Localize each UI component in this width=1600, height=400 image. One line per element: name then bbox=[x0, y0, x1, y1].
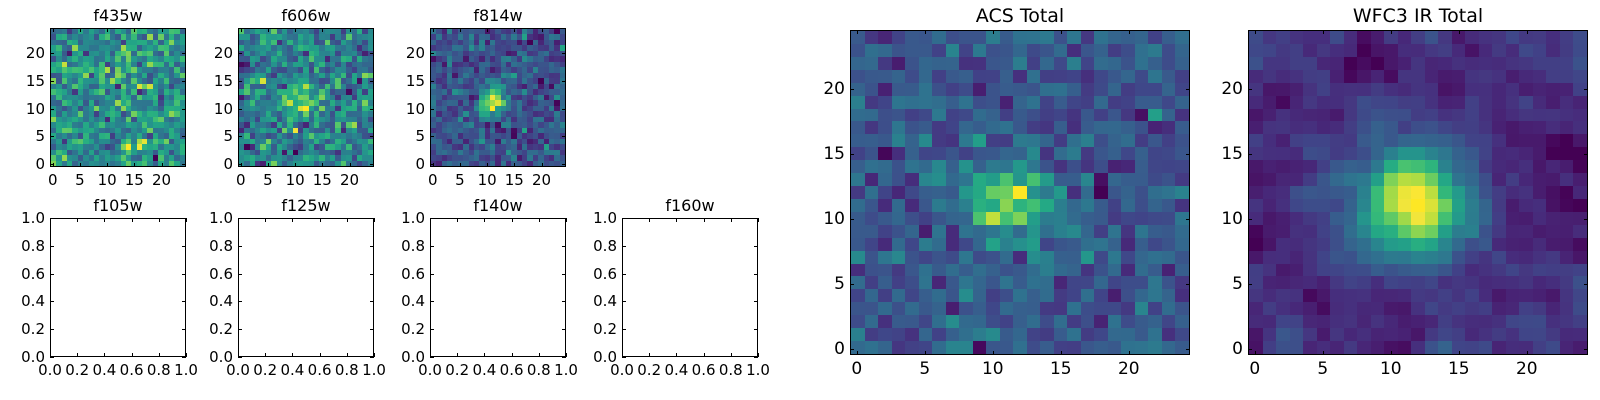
ytick-mark bbox=[50, 136, 54, 137]
ytick-mark-right bbox=[562, 246, 566, 247]
xtick-mark-top bbox=[77, 218, 78, 222]
xtick-mark bbox=[925, 351, 926, 355]
xtick-mark bbox=[350, 163, 351, 167]
ytick-mark-right bbox=[182, 218, 186, 219]
xtick-label: 1.0 bbox=[554, 361, 578, 379]
xtick-mark-top bbox=[704, 218, 705, 222]
ytick-label: 15 bbox=[23, 72, 45, 90]
xtick-label: 1.0 bbox=[362, 361, 386, 379]
xtick-label: 20 bbox=[152, 171, 171, 189]
xtick-label: 0.2 bbox=[637, 361, 661, 379]
ytick-mark-right bbox=[1186, 154, 1190, 155]
ytick-mark bbox=[238, 53, 242, 54]
panel-title-f105w: f105w bbox=[50, 196, 186, 215]
ytick-label: 0.0 bbox=[19, 348, 45, 366]
panel-wfc3_ir_total: WFC3 IR Total0510152005101520 bbox=[1248, 30, 1588, 355]
xtick-label: 15 bbox=[1448, 359, 1470, 379]
ytick-mark bbox=[1248, 349, 1252, 350]
xtick-mark bbox=[1459, 351, 1460, 355]
ytick-mark-right bbox=[562, 357, 566, 358]
xtick-mark-top bbox=[487, 28, 488, 32]
ytick-label: 20 bbox=[403, 44, 425, 62]
ytick-mark bbox=[50, 274, 54, 275]
axes-frame-f140w bbox=[430, 218, 566, 357]
ytick-mark bbox=[1248, 284, 1252, 285]
xtick-mark-top bbox=[80, 28, 81, 32]
xtick-mark-top bbox=[374, 218, 375, 222]
ytick-label: 15 bbox=[1219, 144, 1243, 164]
ytick-mark bbox=[430, 109, 434, 110]
ytick-label: 10 bbox=[821, 209, 845, 229]
xtick-mark bbox=[457, 353, 458, 357]
ytick-label: 5 bbox=[23, 127, 45, 145]
ytick-mark bbox=[850, 154, 854, 155]
ytick-mark-right bbox=[370, 329, 374, 330]
ytick-label: 0 bbox=[211, 155, 233, 173]
xtick-mark-top bbox=[265, 218, 266, 222]
xtick-mark bbox=[347, 353, 348, 357]
ytick-mark-right bbox=[182, 164, 186, 165]
xtick-label: 15 bbox=[125, 171, 144, 189]
ytick-label: 0.4 bbox=[399, 292, 425, 310]
ytick-mark-right bbox=[562, 81, 566, 82]
ytick-mark-right bbox=[1584, 154, 1588, 155]
xtick-label: 5 bbox=[75, 171, 85, 189]
panel-f140w: f140w0.00.20.40.60.81.00.00.20.40.60.81.… bbox=[430, 218, 566, 357]
ytick-mark-right bbox=[562, 329, 566, 330]
xtick-mark-top bbox=[347, 218, 348, 222]
ytick-mark-right bbox=[370, 136, 374, 137]
ytick-mark bbox=[238, 246, 242, 247]
xtick-mark bbox=[322, 163, 323, 167]
ytick-mark bbox=[622, 301, 626, 302]
xtick-mark-top bbox=[295, 28, 296, 32]
ytick-mark bbox=[238, 164, 242, 165]
ytick-mark-right bbox=[754, 357, 758, 358]
xtick-label: 0.8 bbox=[527, 361, 551, 379]
ytick-mark bbox=[430, 329, 434, 330]
xtick-mark-top bbox=[539, 218, 540, 222]
xtick-label: 0.6 bbox=[120, 361, 144, 379]
xtick-mark-top bbox=[457, 218, 458, 222]
ytick-mark bbox=[1248, 154, 1252, 155]
xtick-mark bbox=[487, 163, 488, 167]
ytick-label: 0.0 bbox=[591, 348, 617, 366]
ytick-mark-right bbox=[370, 301, 374, 302]
ytick-mark-right bbox=[182, 246, 186, 247]
ytick-label: 0.2 bbox=[19, 320, 45, 338]
xtick-mark-top bbox=[186, 218, 187, 222]
xtick-mark bbox=[514, 163, 515, 167]
panel-f125w: f125w0.00.20.40.60.81.00.00.20.40.60.81.… bbox=[238, 218, 374, 357]
xtick-label: 0.2 bbox=[253, 361, 277, 379]
xtick-label: 15 bbox=[313, 171, 332, 189]
ytick-mark bbox=[238, 274, 242, 275]
xtick-label: 5 bbox=[919, 359, 930, 379]
xtick-label: 5 bbox=[263, 171, 273, 189]
ytick-mark bbox=[850, 89, 854, 90]
ytick-mark-right bbox=[370, 164, 374, 165]
xtick-mark bbox=[566, 353, 567, 357]
ytick-mark-right bbox=[1186, 349, 1190, 350]
ytick-mark-right bbox=[1584, 89, 1588, 90]
ytick-label: 0.6 bbox=[207, 265, 233, 283]
xtick-mark bbox=[104, 353, 105, 357]
xtick-mark-top bbox=[159, 218, 160, 222]
xtick-mark-top bbox=[53, 28, 54, 32]
axes-frame-f160w bbox=[622, 218, 758, 357]
xtick-label: 0 bbox=[428, 171, 438, 189]
xtick-mark-top bbox=[162, 28, 163, 32]
xtick-label: 0.8 bbox=[335, 361, 359, 379]
ytick-mark bbox=[238, 301, 242, 302]
xtick-mark bbox=[704, 353, 705, 357]
ytick-mark-right bbox=[370, 274, 374, 275]
ytick-mark bbox=[622, 274, 626, 275]
xtick-label: 0.4 bbox=[92, 361, 116, 379]
ytick-label: 15 bbox=[821, 144, 845, 164]
xtick-label: 10 bbox=[1380, 359, 1402, 379]
ytick-mark bbox=[50, 218, 54, 219]
xtick-label: 15 bbox=[1050, 359, 1072, 379]
xtick-label: 10 bbox=[98, 171, 117, 189]
ytick-label: 10 bbox=[1219, 209, 1243, 229]
ytick-label: 0.2 bbox=[399, 320, 425, 338]
xtick-mark bbox=[162, 163, 163, 167]
ytick-mark-right bbox=[562, 218, 566, 219]
ytick-label: 5 bbox=[211, 127, 233, 145]
xtick-mark-top bbox=[460, 28, 461, 32]
xtick-mark-top bbox=[857, 30, 858, 34]
ytick-label: 5 bbox=[821, 274, 845, 294]
ytick-mark bbox=[622, 246, 626, 247]
xtick-mark-top bbox=[433, 28, 434, 32]
xtick-mark bbox=[857, 351, 858, 355]
ytick-label: 0.8 bbox=[591, 237, 617, 255]
ytick-mark bbox=[238, 81, 242, 82]
ytick-mark bbox=[622, 218, 626, 219]
ytick-mark bbox=[50, 329, 54, 330]
ytick-label: 15 bbox=[211, 72, 233, 90]
ytick-mark bbox=[850, 349, 854, 350]
ytick-mark bbox=[50, 164, 54, 165]
xtick-label: 0 bbox=[236, 171, 246, 189]
ytick-mark bbox=[1248, 219, 1252, 220]
ytick-label: 0.8 bbox=[207, 237, 233, 255]
xtick-mark-top bbox=[1391, 30, 1392, 34]
panel-title-f140w: f140w bbox=[430, 196, 566, 215]
xtick-label: 5 bbox=[455, 171, 465, 189]
ytick-label: 10 bbox=[23, 100, 45, 118]
ytick-mark-right bbox=[182, 136, 186, 137]
ytick-mark bbox=[430, 136, 434, 137]
ytick-mark-right bbox=[1584, 349, 1588, 350]
xtick-label: 0.2 bbox=[65, 361, 89, 379]
xtick-mark-top bbox=[134, 28, 135, 32]
ytick-label: 1.0 bbox=[19, 209, 45, 227]
ytick-mark bbox=[430, 246, 434, 247]
ytick-label: 0.6 bbox=[19, 265, 45, 283]
xtick-mark-top bbox=[1323, 30, 1324, 34]
ytick-mark bbox=[622, 357, 626, 358]
ytick-label: 20 bbox=[23, 44, 45, 62]
xtick-mark bbox=[993, 351, 994, 355]
xtick-mark-top bbox=[484, 218, 485, 222]
xtick-label: 0.6 bbox=[308, 361, 332, 379]
xtick-mark-top bbox=[993, 30, 994, 34]
ytick-label: 0.2 bbox=[207, 320, 233, 338]
ytick-label: 0 bbox=[403, 155, 425, 173]
xtick-mark-top bbox=[758, 218, 759, 222]
panel-title-f606w: f606w bbox=[238, 6, 374, 25]
panel-title-acs_total: ACS Total bbox=[850, 5, 1190, 27]
xtick-mark-top bbox=[676, 218, 677, 222]
ytick-mark-right bbox=[370, 53, 374, 54]
axes-frame-f105w bbox=[50, 218, 186, 357]
ytick-mark bbox=[50, 301, 54, 302]
ytick-label: 10 bbox=[403, 100, 425, 118]
ytick-mark-right bbox=[370, 109, 374, 110]
xtick-mark bbox=[107, 163, 108, 167]
ytick-label: 0.4 bbox=[19, 292, 45, 310]
ytick-mark-right bbox=[1186, 284, 1190, 285]
xtick-mark-top bbox=[1255, 30, 1256, 34]
xtick-mark-top bbox=[104, 218, 105, 222]
xtick-mark bbox=[1061, 351, 1062, 355]
ytick-mark-right bbox=[754, 329, 758, 330]
axes-frame-wfc3_ir_total bbox=[1248, 30, 1588, 355]
ytick-label: 0.6 bbox=[591, 265, 617, 283]
ytick-mark-right bbox=[182, 81, 186, 82]
xtick-mark-top bbox=[649, 218, 650, 222]
heatmap-image-f435w bbox=[51, 29, 185, 166]
xtick-mark bbox=[512, 353, 513, 357]
xtick-mark-top bbox=[350, 28, 351, 32]
ytick-mark bbox=[50, 109, 54, 110]
xtick-mark-top bbox=[320, 218, 321, 222]
ytick-mark-right bbox=[1584, 219, 1588, 220]
ytick-label: 5 bbox=[1219, 274, 1243, 294]
axes-frame-f125w bbox=[238, 218, 374, 357]
ytick-mark bbox=[1248, 89, 1252, 90]
ytick-mark bbox=[850, 219, 854, 220]
panel-f160w: f160w0.00.20.40.60.81.00.00.20.40.60.81.… bbox=[622, 218, 758, 357]
xtick-label: 0.2 bbox=[445, 361, 469, 379]
xtick-label: 0.6 bbox=[500, 361, 524, 379]
ytick-label: 0.8 bbox=[19, 237, 45, 255]
ytick-mark bbox=[238, 218, 242, 219]
panel-title-wfc3_ir_total: WFC3 IR Total bbox=[1248, 5, 1588, 27]
heatmap-image-f814w bbox=[431, 29, 565, 166]
xtick-mark bbox=[1255, 351, 1256, 355]
figure-canvas: f435w0510152005101520f606w05101520051015… bbox=[0, 0, 1600, 400]
xtick-mark bbox=[676, 353, 677, 357]
ytick-mark-right bbox=[1584, 284, 1588, 285]
xtick-mark bbox=[731, 353, 732, 357]
ytick-mark-right bbox=[562, 136, 566, 137]
ytick-mark-right bbox=[182, 301, 186, 302]
xtick-mark-top bbox=[566, 218, 567, 222]
ytick-mark-right bbox=[370, 218, 374, 219]
xtick-mark bbox=[77, 353, 78, 357]
ytick-label: 0 bbox=[23, 155, 45, 173]
ytick-mark bbox=[50, 53, 54, 54]
xtick-label: 20 bbox=[1118, 359, 1140, 379]
xtick-label: 0.4 bbox=[472, 361, 496, 379]
ytick-mark-right bbox=[562, 164, 566, 165]
xtick-label: 0.6 bbox=[692, 361, 716, 379]
xtick-mark bbox=[1129, 351, 1130, 355]
xtick-mark bbox=[539, 353, 540, 357]
xtick-mark-top bbox=[292, 218, 293, 222]
ytick-mark-right bbox=[754, 218, 758, 219]
xtick-mark-top bbox=[107, 28, 108, 32]
xtick-label: 10 bbox=[478, 171, 497, 189]
ytick-label: 0.2 bbox=[591, 320, 617, 338]
xtick-mark-top bbox=[1459, 30, 1460, 34]
ytick-mark bbox=[430, 53, 434, 54]
xtick-label: 20 bbox=[532, 171, 551, 189]
ytick-mark-right bbox=[182, 329, 186, 330]
ytick-label: 5 bbox=[403, 127, 425, 145]
xtick-mark bbox=[186, 353, 187, 357]
xtick-mark-top bbox=[512, 218, 513, 222]
ytick-mark bbox=[622, 329, 626, 330]
ytick-label: 0.4 bbox=[207, 292, 233, 310]
axes-frame-f814w bbox=[430, 28, 566, 167]
ytick-label: 0 bbox=[1219, 339, 1243, 359]
xtick-label: 0 bbox=[851, 359, 862, 379]
ytick-label: 10 bbox=[211, 100, 233, 118]
axes-frame-f435w bbox=[50, 28, 186, 167]
ytick-mark-right bbox=[754, 246, 758, 247]
ytick-mark bbox=[430, 164, 434, 165]
xtick-mark bbox=[374, 353, 375, 357]
xtick-label: 0.8 bbox=[147, 361, 171, 379]
xtick-mark-top bbox=[925, 30, 926, 34]
ytick-mark-right bbox=[1186, 219, 1190, 220]
ytick-mark bbox=[850, 284, 854, 285]
xtick-mark bbox=[159, 353, 160, 357]
ytick-label: 20 bbox=[821, 79, 845, 99]
ytick-label: 0.8 bbox=[399, 237, 425, 255]
heatmap-image-wfc3_ir_total bbox=[1249, 31, 1587, 354]
ytick-label: 1.0 bbox=[591, 209, 617, 227]
xtick-mark bbox=[542, 163, 543, 167]
heatmap-image-acs_total bbox=[851, 31, 1189, 354]
panel-f814w: f814w0510152005101520 bbox=[430, 28, 566, 167]
ytick-mark-right bbox=[370, 246, 374, 247]
xtick-mark-top bbox=[1527, 30, 1528, 34]
ytick-mark bbox=[238, 357, 242, 358]
xtick-mark bbox=[134, 163, 135, 167]
xtick-mark bbox=[292, 353, 293, 357]
xtick-mark bbox=[649, 353, 650, 357]
panel-title-f814w: f814w bbox=[430, 6, 566, 25]
ytick-label: 20 bbox=[211, 44, 233, 62]
xtick-mark bbox=[460, 163, 461, 167]
xtick-label: 1.0 bbox=[174, 361, 198, 379]
ytick-mark-right bbox=[1186, 89, 1190, 90]
ytick-mark-right bbox=[562, 53, 566, 54]
xtick-mark bbox=[265, 353, 266, 357]
xtick-mark-top bbox=[731, 218, 732, 222]
ytick-mark bbox=[50, 246, 54, 247]
xtick-mark bbox=[295, 163, 296, 167]
xtick-mark bbox=[1527, 351, 1528, 355]
ytick-mark bbox=[238, 136, 242, 137]
xtick-mark-top bbox=[1061, 30, 1062, 34]
xtick-mark bbox=[80, 163, 81, 167]
xtick-mark bbox=[484, 353, 485, 357]
xtick-mark bbox=[132, 353, 133, 357]
xtick-mark-top bbox=[132, 218, 133, 222]
xtick-mark-top bbox=[268, 28, 269, 32]
xtick-label: 0.4 bbox=[280, 361, 304, 379]
ytick-mark bbox=[430, 301, 434, 302]
ytick-label: 0.6 bbox=[399, 265, 425, 283]
ytick-label: 1.0 bbox=[207, 209, 233, 227]
ytick-mark-right bbox=[182, 53, 186, 54]
ytick-label: 0 bbox=[821, 339, 845, 359]
panel-title-f125w: f125w bbox=[238, 196, 374, 215]
ytick-mark bbox=[50, 357, 54, 358]
heatmap-image-f606w bbox=[239, 29, 373, 166]
xtick-mark bbox=[320, 353, 321, 357]
axes-frame-f606w bbox=[238, 28, 374, 167]
xtick-mark-top bbox=[241, 28, 242, 32]
xtick-label: 10 bbox=[982, 359, 1004, 379]
ytick-label: 20 bbox=[1219, 79, 1243, 99]
ytick-mark bbox=[430, 274, 434, 275]
ytick-mark bbox=[50, 81, 54, 82]
ytick-mark bbox=[238, 109, 242, 110]
ytick-mark-right bbox=[754, 274, 758, 275]
ytick-mark-right bbox=[182, 274, 186, 275]
xtick-mark bbox=[1323, 351, 1324, 355]
axes-frame-acs_total bbox=[850, 30, 1190, 355]
ytick-label: 15 bbox=[403, 72, 425, 90]
ytick-label: 0.4 bbox=[591, 292, 617, 310]
ytick-label: 0.0 bbox=[207, 348, 233, 366]
ytick-mark-right bbox=[562, 109, 566, 110]
xtick-mark bbox=[758, 353, 759, 357]
xtick-label: 1.0 bbox=[746, 361, 770, 379]
xtick-label: 0 bbox=[48, 171, 58, 189]
panel-acs_total: ACS Total0510152005101520 bbox=[850, 30, 1190, 355]
panel-title-f160w: f160w bbox=[622, 196, 758, 215]
ytick-mark bbox=[430, 81, 434, 82]
ytick-mark-right bbox=[182, 109, 186, 110]
xtick-mark bbox=[1391, 351, 1392, 355]
xtick-label: 15 bbox=[505, 171, 524, 189]
ytick-mark bbox=[238, 329, 242, 330]
xtick-label: 0 bbox=[1249, 359, 1260, 379]
panel-title-f435w: f435w bbox=[50, 6, 186, 25]
xtick-label: 0.8 bbox=[719, 361, 743, 379]
xtick-label: 20 bbox=[1516, 359, 1538, 379]
panel-f105w: f105w0.00.20.40.60.81.00.00.20.40.60.81.… bbox=[50, 218, 186, 357]
ytick-mark-right bbox=[370, 357, 374, 358]
ytick-label: 0.0 bbox=[399, 348, 425, 366]
xtick-mark-top bbox=[542, 28, 543, 32]
xtick-mark-top bbox=[1129, 30, 1130, 34]
xtick-label: 5 bbox=[1317, 359, 1328, 379]
ytick-mark bbox=[430, 218, 434, 219]
xtick-label: 10 bbox=[286, 171, 305, 189]
xtick-mark bbox=[268, 163, 269, 167]
ytick-mark-right bbox=[562, 301, 566, 302]
